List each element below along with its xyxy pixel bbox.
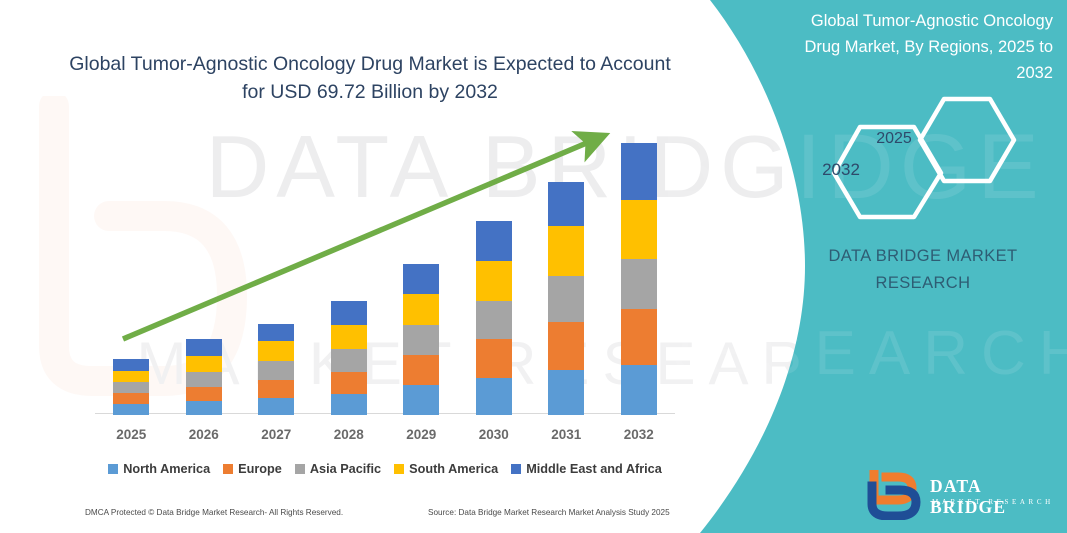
chart-legend: North AmericaEuropeAsia PacificSouth Ame…: [95, 458, 675, 480]
bar-segment: [113, 404, 149, 415]
panel-title: Global Tumor-Agnostic Oncology Drug Mark…: [778, 8, 1053, 86]
brand-name-line-2: RESEARCH: [790, 270, 1056, 297]
legend-swatch-icon: [295, 464, 305, 474]
bar-segment: [621, 309, 657, 365]
x-axis-label-2028: 2028: [314, 427, 384, 442]
hexagon-outline-icons: [818, 95, 1067, 220]
teal-watermark-2: RESEARCH: [668, 318, 1067, 389]
footer-copyright: DMCA Protected © Data Bridge Market Rese…: [85, 508, 343, 517]
hexagon-label-2032: 2032: [808, 160, 874, 180]
legend-item[interactable]: South America: [394, 462, 498, 476]
legend-label: Middle East and Africa: [526, 462, 662, 476]
x-axis-labels: 20252026202720282029203020312032: [95, 427, 675, 449]
brand-name-line-1: DATA BRIDGE MARKET: [790, 243, 1056, 270]
legend-label: North America: [123, 462, 210, 476]
legend-item[interactable]: Europe: [223, 462, 282, 476]
bar-2028[interactable]: [331, 301, 367, 415]
bar-segment: [258, 341, 294, 361]
bar-segment: [113, 371, 149, 382]
footer-source: Source: Data Bridge Market Research Mark…: [428, 508, 670, 517]
bar-segment: [331, 301, 367, 325]
legend-label: South America: [409, 462, 498, 476]
bar-segment: [403, 294, 439, 325]
bar-segment: [476, 261, 512, 301]
bar-2032[interactable]: [621, 143, 657, 415]
legend-swatch-icon: [394, 464, 404, 474]
hexagon-label-2025: 2025: [864, 130, 924, 148]
logo-secondary-text: MARKET RESEARCH: [932, 498, 1054, 506]
infographic-canvas: DATA BRIDGE MARKET RESEARCH Global Tumor…: [0, 0, 1067, 533]
bar-segment: [331, 394, 367, 415]
chart-panel: DATA BRIDGE MARKET RESEARCH Global Tumor…: [0, 0, 760, 533]
legend-label: Asia Pacific: [310, 462, 381, 476]
bar-segment: [548, 322, 584, 370]
bar-segment: [186, 339, 222, 356]
data-bridge-logo-mark-icon: [864, 470, 926, 520]
bar-segment: [621, 259, 657, 309]
x-axis-label-2027: 2027: [241, 427, 311, 442]
x-axis-label-2031: 2031: [531, 427, 601, 442]
bar-segment: [113, 382, 149, 393]
brand-name: DATA BRIDGE MARKET RESEARCH: [790, 243, 1056, 297]
bar-segment: [258, 361, 294, 380]
bar-segment: [403, 325, 439, 355]
bar-segment: [186, 372, 222, 387]
bar-segment: [403, 264, 439, 294]
x-axis-label-2030: 2030: [459, 427, 529, 442]
x-axis-label-2032: 2032: [604, 427, 674, 442]
bar-segment: [331, 349, 367, 372]
bar-2031[interactable]: [548, 182, 584, 415]
footer: DMCA Protected © Data Bridge Market Rese…: [0, 508, 760, 528]
bar-2026[interactable]: [186, 339, 222, 415]
bar-segment: [476, 378, 512, 415]
bar-segment: [258, 324, 294, 341]
bar-2027[interactable]: [258, 324, 294, 415]
legend-swatch-icon: [511, 464, 521, 474]
bar-2030[interactable]: [476, 221, 512, 415]
chart-title: Global Tumor-Agnostic Oncology Drug Mark…: [60, 50, 680, 106]
legend-item[interactable]: Asia Pacific: [295, 462, 381, 476]
legend-item[interactable]: North America: [108, 462, 210, 476]
bar-segment: [548, 276, 584, 322]
bar-segment: [621, 143, 657, 200]
bar-segment: [403, 355, 439, 385]
bar-segment: [186, 401, 222, 415]
hexagon-badges: [818, 95, 1067, 220]
bar-segment: [548, 182, 584, 226]
bar-segment: [258, 398, 294, 415]
legend-item[interactable]: Middle East and Africa: [511, 462, 662, 476]
data-bridge-logo: DATA BRIDGE MARKET RESEARCH: [864, 470, 1059, 522]
bar-segment: [476, 301, 512, 339]
teal-side-panel: BRIDGE RESEARCH Global Tumor-Agnostic On…: [668, 0, 1067, 533]
bar-segment: [476, 221, 512, 261]
bar-segment: [621, 200, 657, 259]
bar-segment: [403, 385, 439, 415]
bar-segment: [186, 387, 222, 401]
legend-swatch-icon: [223, 464, 233, 474]
x-axis-label-2029: 2029: [386, 427, 456, 442]
x-axis-label-2026: 2026: [169, 427, 239, 442]
bar-segment: [331, 372, 367, 394]
bar-segment: [258, 380, 294, 398]
bar-segment: [331, 325, 367, 349]
bar-chart-plot-area: [95, 120, 675, 415]
bar-segment: [548, 370, 584, 415]
legend-label: Europe: [238, 462, 282, 476]
bar-segment: [476, 339, 512, 378]
bar-2029[interactable]: [403, 264, 439, 415]
bar-segment: [186, 356, 222, 372]
hexagon-2025-icon: [920, 99, 1014, 181]
bar-segment: [548, 226, 584, 276]
bar-segment: [113, 359, 149, 371]
x-axis-label-2025: 2025: [96, 427, 166, 442]
legend-swatch-icon: [108, 464, 118, 474]
logo-primary-text: DATA BRIDGE: [930, 476, 1059, 518]
bar-segment: [113, 393, 149, 404]
bar-segment: [621, 365, 657, 415]
bar-2025[interactable]: [113, 359, 149, 415]
